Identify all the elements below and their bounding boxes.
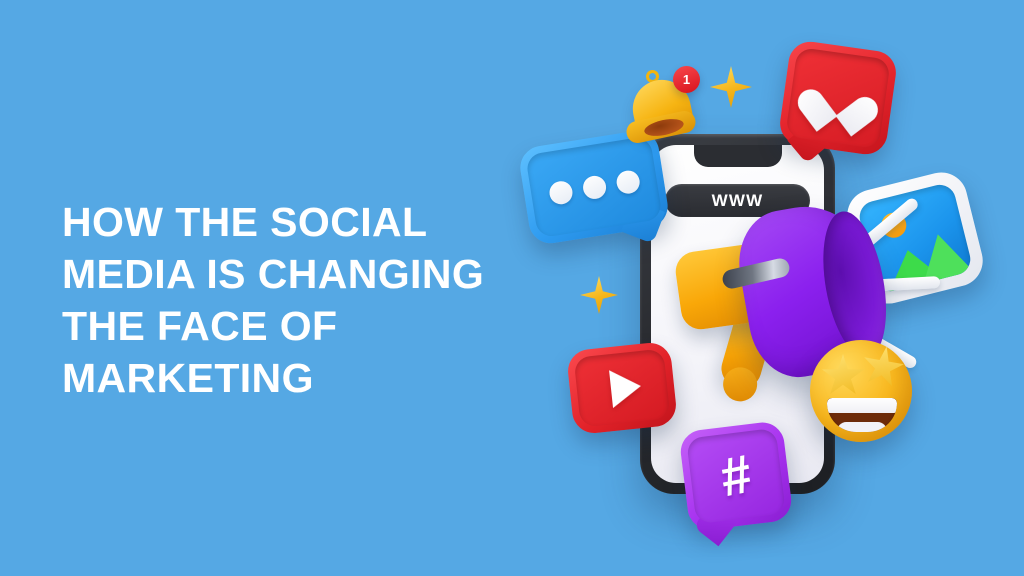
heart-icon — [811, 73, 865, 123]
notification-bell-icon: 1 — [624, 66, 702, 144]
hashtag-icon: # — [716, 447, 756, 506]
typing-dot-icon — [547, 179, 573, 205]
headline-line-3: THE FACE OF — [62, 300, 542, 352]
emoji-lower-lip — [837, 422, 887, 432]
notification-count: 1 — [683, 73, 690, 86]
chat-message-badge — [517, 128, 671, 247]
emoji-teeth — [827, 398, 897, 413]
banner-root: HOW THE SOCIAL MEDIA IS CHANGING THE FAC… — [0, 0, 1024, 576]
social-media-illustration: WWW 1 — [512, 28, 1024, 548]
hashtag-badge: # — [678, 420, 793, 532]
play-badge-inner — [574, 348, 671, 427]
emoji-mouth — [827, 398, 897, 432]
video-play-badge — [566, 341, 678, 435]
headline-line-4: MARKETING — [62, 352, 542, 404]
hashtag-badge-inner: # — [686, 428, 786, 524]
play-icon — [609, 367, 643, 408]
heart-badge-inner — [785, 47, 891, 149]
page-title: HOW THE SOCIAL MEDIA IS CHANGING THE FAC… — [62, 196, 542, 404]
typing-dot-icon — [614, 169, 640, 195]
sparkle-icon — [580, 276, 618, 314]
heart-like-badge — [777, 39, 898, 157]
headline-line-2: MEDIA IS CHANGING — [62, 248, 542, 300]
star-struck-emoji-icon — [810, 340, 912, 442]
headline-line-1: HOW THE SOCIAL — [62, 196, 542, 248]
phone-notch — [694, 145, 782, 167]
sparkle-icon — [710, 66, 752, 108]
notification-badge: 1 — [673, 66, 700, 93]
typing-dot-icon — [581, 174, 607, 200]
